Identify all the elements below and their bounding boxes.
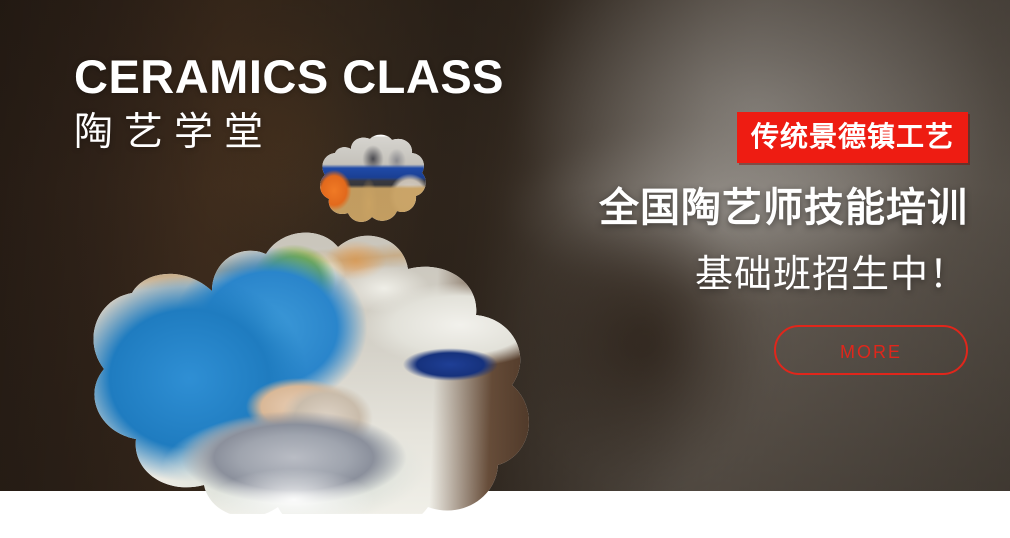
title-english: CERAMICS CLASS <box>74 53 504 100</box>
title-block: CERAMICS CLASS 陶艺学堂 <box>74 53 504 152</box>
large-photo-image <box>71 232 546 514</box>
large-cloud-photo <box>62 227 554 519</box>
promo-subline: 基础班招生中！ <box>599 256 968 294</box>
more-button[interactable]: MORE <box>774 325 968 375</box>
promo-block: 传统景德镇工艺 全国陶艺师技能培训 基础班招生中！ MORE <box>599 112 968 375</box>
ceramics-class-banner: CERAMICS CLASS 陶艺学堂 传统景德镇工艺 全国陶艺师技能培训 基础… <box>0 0 1010 538</box>
title-chinese: 陶艺学堂 <box>74 113 504 152</box>
promo-headline: 全国陶艺师技能培训 <box>599 188 968 228</box>
craft-badge: 传统景德镇工艺 <box>737 112 968 163</box>
